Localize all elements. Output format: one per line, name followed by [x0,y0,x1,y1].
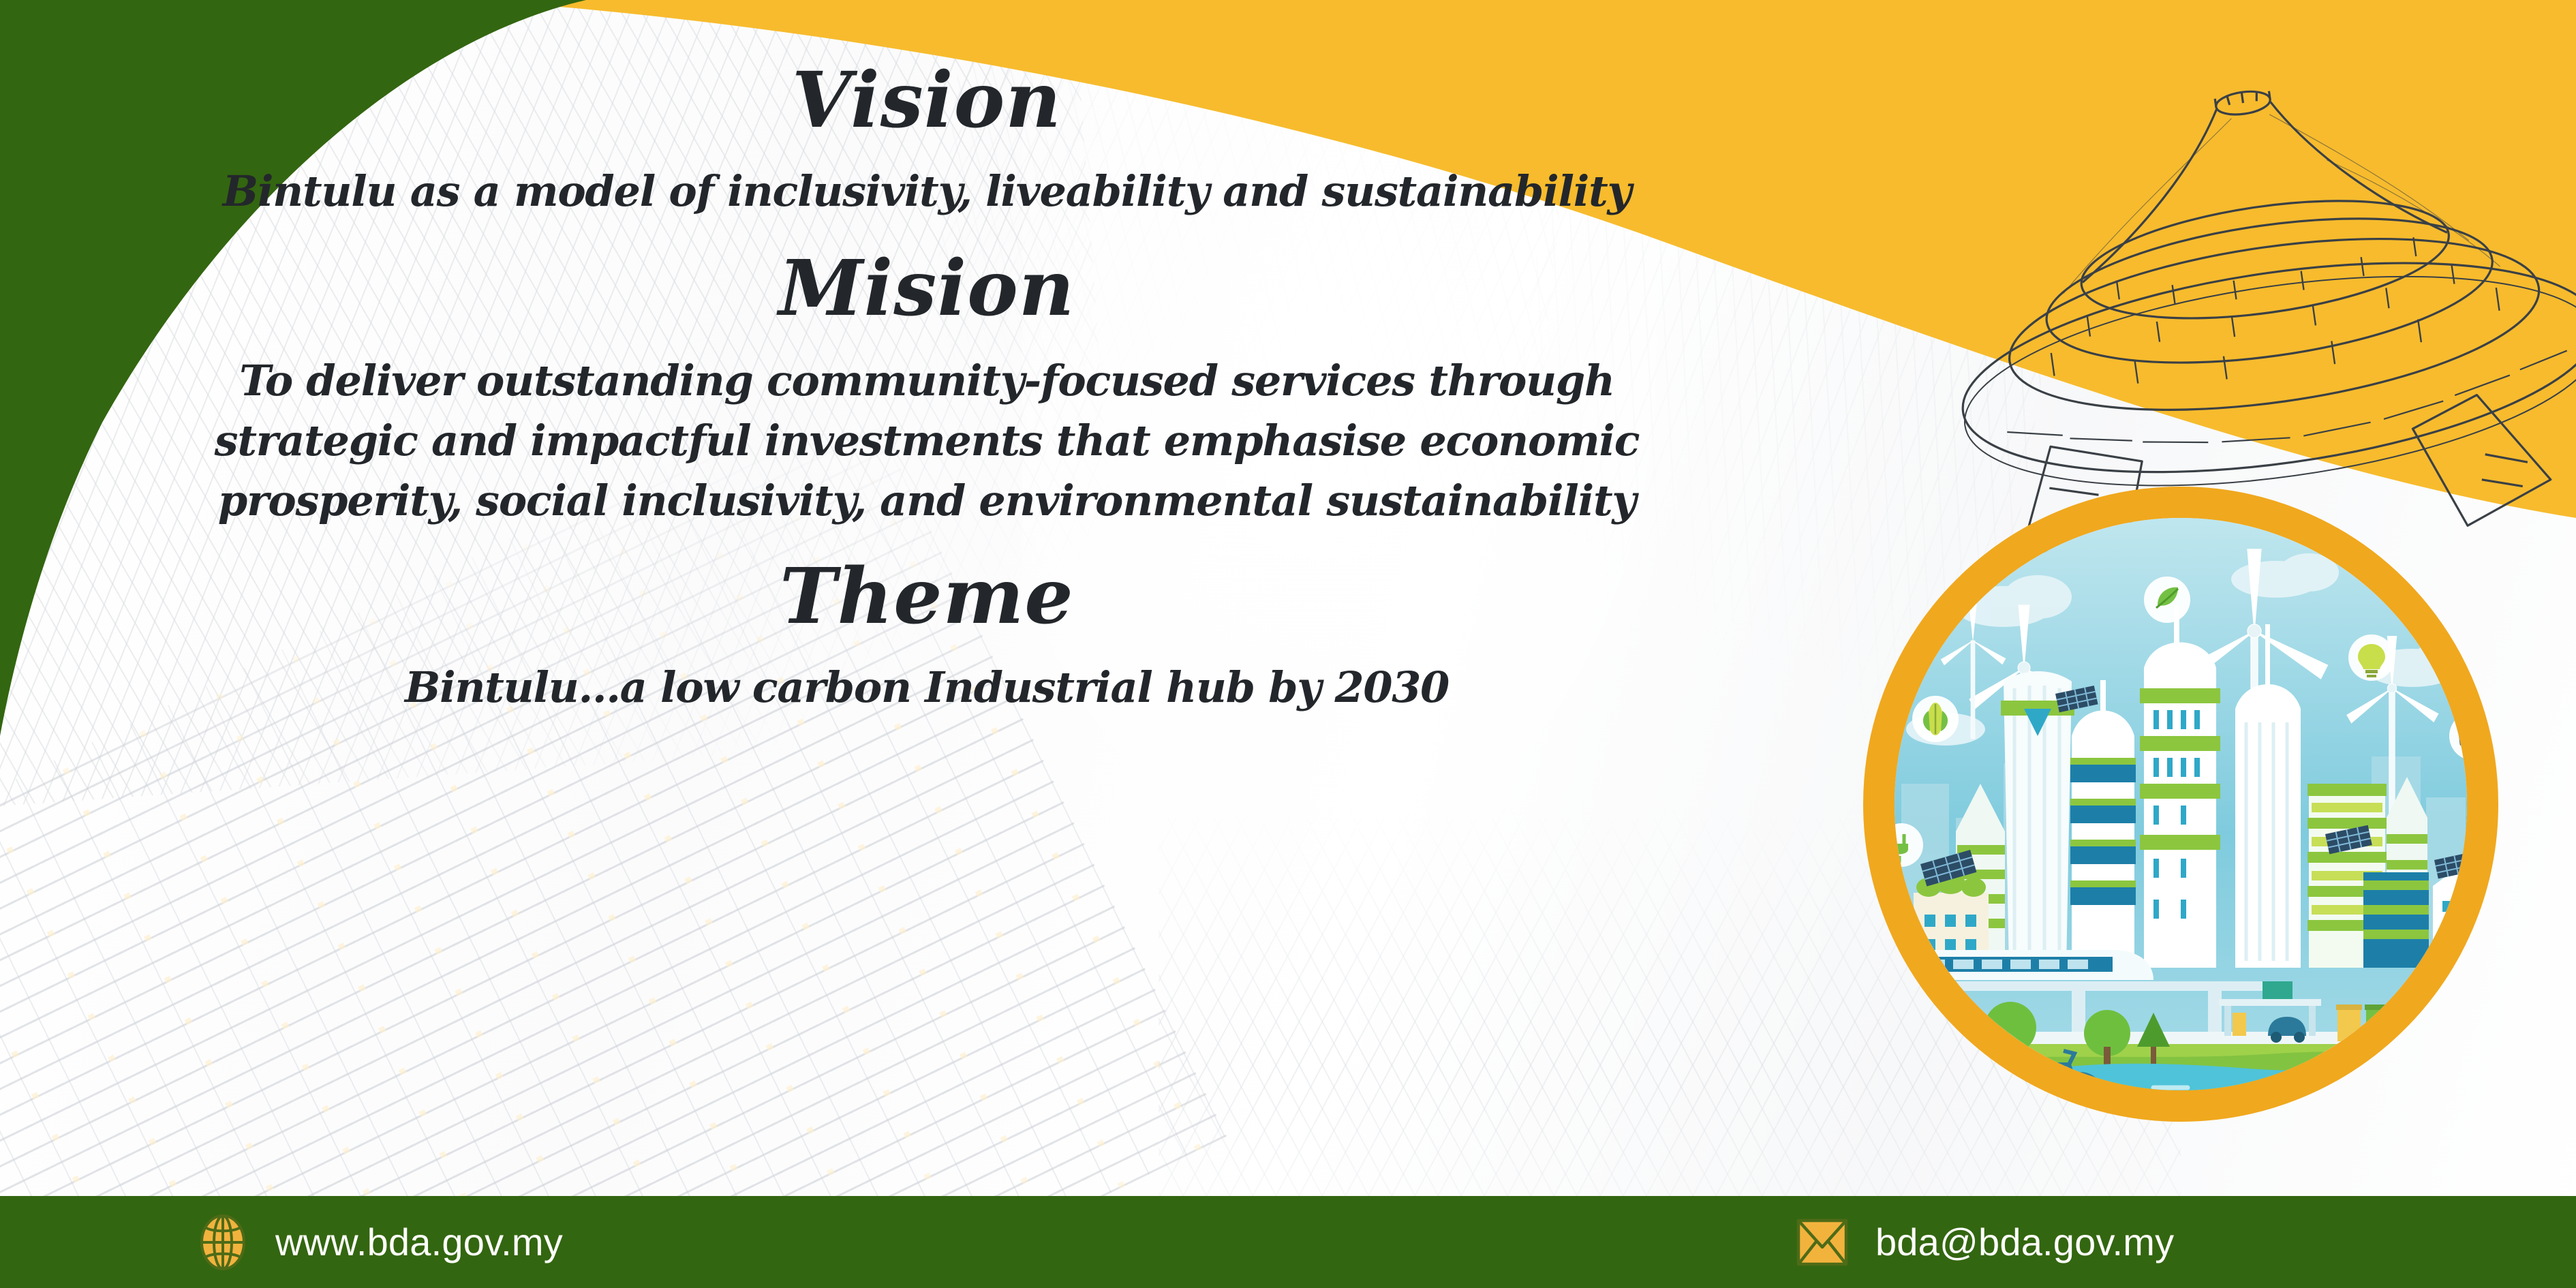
theme-statement: Bintulu...a low carbon Industrial hub by… [0,666,1854,709]
mission-statement-line-3: prosperity, social inclusivity, and envi… [0,480,1854,522]
vision-heading: Vision [0,63,1854,139]
eco-city-circle-illustration [1799,463,2562,1145]
theme-section: Theme [0,559,1854,635]
dome-tier-2 [2038,194,2501,386]
email-label[interactable]: bda@bda.gov.my [1875,1220,2174,1264]
dome-tier-3 [1999,211,2549,439]
theme-heading: Theme [0,559,1854,635]
envelope-icon [1796,1218,1848,1266]
mission-heading: Mision [0,251,1854,327]
website-contact[interactable]: www.bda.gov.my [198,1214,563,1270]
dome-tier-1 [2074,181,2456,338]
vision-section: Vision [0,63,1854,139]
mission-statement-line-1: To deliver outstanding community-focused… [0,360,1854,402]
website-label[interactable]: www.bda.gov.my [275,1220,563,1264]
mission-statement-line-2: strategic and impactful investments that… [0,420,1854,462]
bda-vision-mission-banner: Vision Bintulu as a model of inclusivity… [0,0,2576,1288]
mission-section: Mision [0,251,1854,327]
contact-footer: www.bda.gov.my bda@bda.gov.my [0,1196,2576,1288]
globe-icon [198,1214,248,1270]
vision-statement: Bintulu as a model of inclusivity, livea… [0,170,1854,213]
email-contact[interactable]: bda@bda.gov.my [1796,1218,2174,1266]
